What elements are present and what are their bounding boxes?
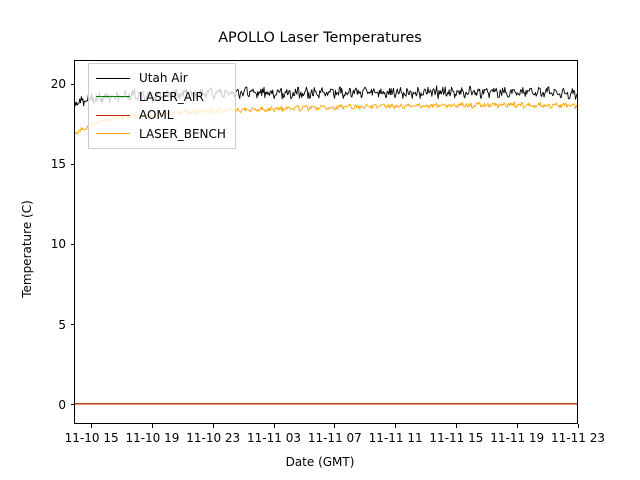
legend-item-label: Utah Air bbox=[139, 71, 188, 85]
x-tick-label: 11-11 03 bbox=[247, 431, 301, 445]
x-tick-label: 11-11 23 bbox=[551, 431, 605, 445]
legend-item-label: LASER_AIR bbox=[139, 90, 204, 104]
legend-item-label: LASER_BENCH bbox=[139, 127, 226, 141]
y-tick-label: 10 bbox=[6, 237, 66, 251]
x-tick-mark bbox=[213, 424, 214, 428]
x-tick-mark bbox=[91, 424, 92, 428]
y-tick-label: 15 bbox=[6, 157, 66, 171]
legend-color-swatch bbox=[96, 78, 130, 79]
legend-item[interactable]: AOML bbox=[96, 106, 226, 125]
x-tick-label: 11-11 07 bbox=[308, 431, 362, 445]
x-tick-mark bbox=[334, 424, 335, 428]
chart-title: APOLLO Laser Temperatures bbox=[0, 30, 640, 46]
legend-item-label: AOML bbox=[139, 108, 173, 122]
legend-item[interactable]: LASER_BENCH bbox=[96, 125, 226, 144]
y-axis-label: Temperature (C) bbox=[20, 89, 34, 409]
y-tick-label: 0 bbox=[6, 398, 66, 412]
x-tick-mark bbox=[395, 424, 396, 428]
x-tick-label: 11-11 11 bbox=[369, 431, 423, 445]
x-tick-label: 11-11 15 bbox=[429, 431, 483, 445]
legend[interactable]: Utah AirLASER_AIRAOMLLASER_BENCH bbox=[88, 63, 236, 149]
y-tick-label: 20 bbox=[6, 77, 66, 91]
y-tick-label: 5 bbox=[6, 318, 66, 332]
x-tick-mark bbox=[517, 424, 518, 428]
x-tick-mark bbox=[456, 424, 457, 428]
x-tick-label: 11-10 15 bbox=[65, 431, 119, 445]
figure-canvas: APOLLO Laser Temperatures 05101520 11-10… bbox=[0, 0, 640, 480]
x-tick-label: 11-10 19 bbox=[125, 431, 179, 445]
x-tick-mark bbox=[274, 424, 275, 428]
x-tick-label: 11-10 23 bbox=[186, 431, 240, 445]
legend-color-swatch bbox=[96, 96, 130, 97]
x-tick-mark bbox=[152, 424, 153, 428]
legend-color-swatch bbox=[96, 115, 130, 116]
x-axis-label: Date (GMT) bbox=[0, 455, 640, 469]
legend-item[interactable]: Utah Air bbox=[96, 69, 226, 88]
x-tick-label: 11-11 19 bbox=[490, 431, 544, 445]
x-tick-mark bbox=[578, 424, 579, 428]
legend-color-swatch bbox=[96, 133, 130, 134]
legend-item[interactable]: LASER_AIR bbox=[96, 88, 226, 107]
